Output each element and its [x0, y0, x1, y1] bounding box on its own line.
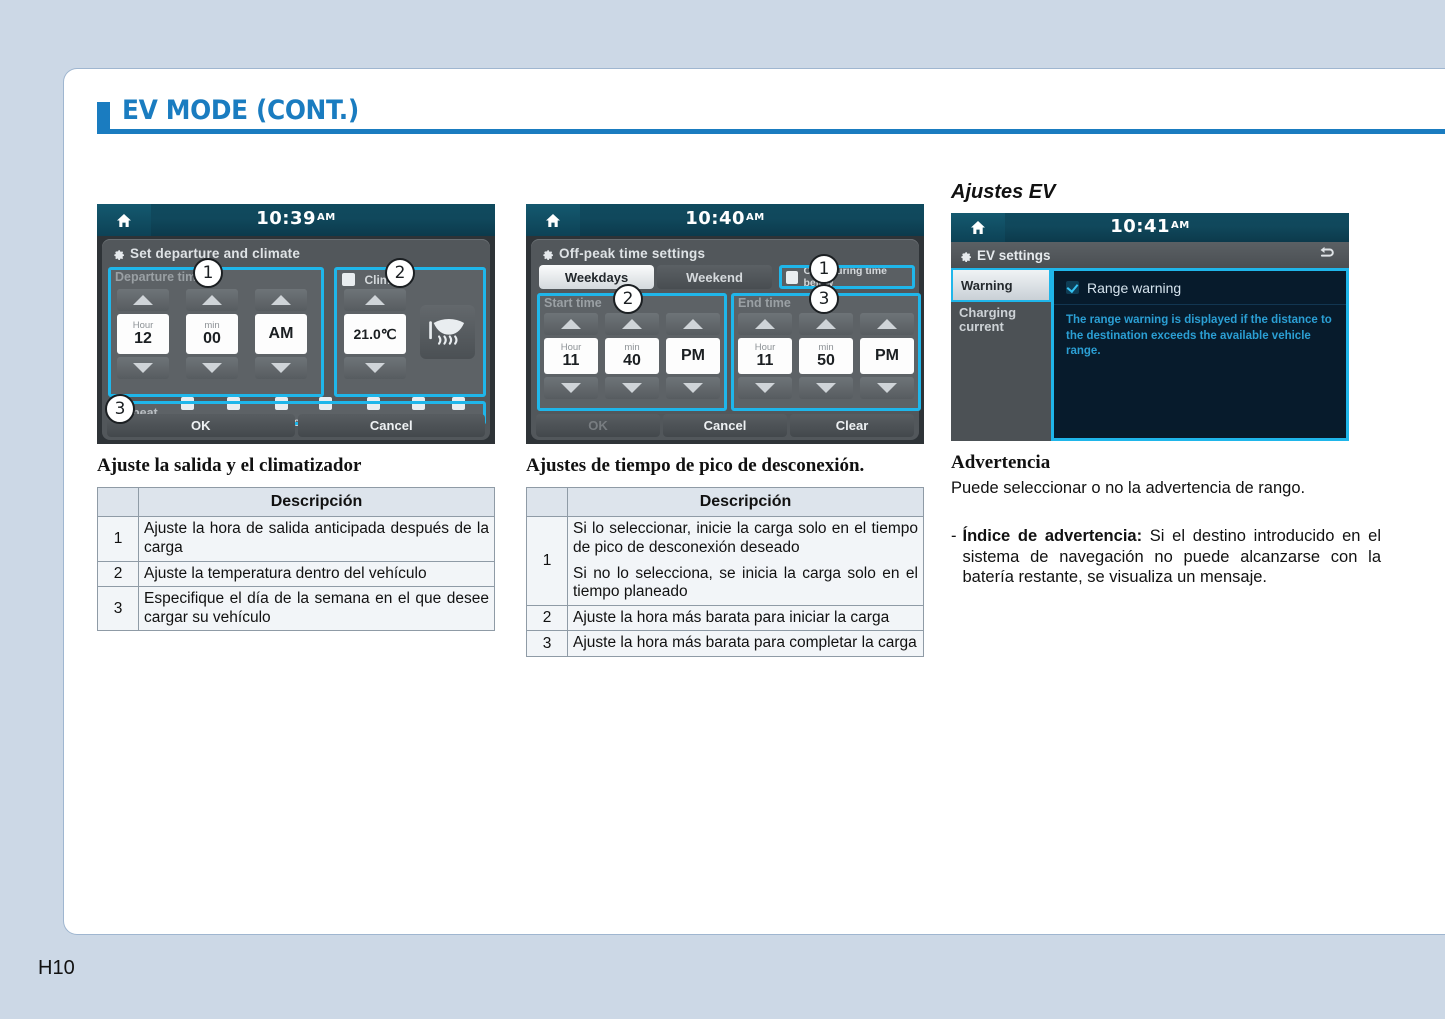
start-ampm-value: PM: [681, 348, 705, 365]
table-header-num: [98, 488, 139, 517]
column-offpeak: 10:40AM Off-peak time settings Weekdays …: [526, 204, 956, 657]
checkbox-sat[interactable]: [452, 397, 465, 410]
checkbox-tue[interactable]: [275, 397, 288, 410]
device-clock: 10:40AM: [526, 208, 924, 229]
row-num: 2: [527, 605, 568, 631]
row-num: 2: [98, 561, 139, 587]
checkbox-wed[interactable]: [319, 397, 332, 410]
temperature-down-arrow[interactable]: [344, 357, 406, 379]
clock-time: 10:41: [1110, 216, 1170, 237]
panel-title: Off-peak time settings: [541, 246, 705, 261]
device-clock: 10:39AM: [97, 208, 495, 229]
cancel-button[interactable]: Cancel: [298, 414, 486, 437]
device-status-bar: 10:41AM: [951, 213, 1349, 242]
checkbox-sun[interactable]: [181, 397, 194, 410]
dialog-button-row: OK Cancel Clear: [536, 414, 914, 437]
departure-time-group: Departure time Hour 12: [108, 267, 324, 397]
end-ampm-spinner[interactable]: PM: [860, 313, 914, 399]
device-status-bar: 10:40AM: [526, 204, 924, 236]
start-time-label: Start time: [544, 296, 602, 310]
temperature-spinner[interactable]: 21.0℃: [344, 289, 406, 379]
ev-settings-content: Range warning The range warning is displ…: [1051, 268, 1349, 441]
offpeak-panel: Off-peak time settings Weekdays Weekend …: [531, 239, 919, 440]
start-hour-value-field[interactable]: Hour 11: [544, 338, 598, 374]
dialog-button-row: OK Cancel: [107, 414, 485, 437]
row-num: 3: [527, 631, 568, 657]
sidebar-item-charging-current[interactable]: Charging current: [951, 302, 1051, 342]
range-warning-checkbox[interactable]: [1066, 281, 1079, 294]
advertencia-body: Puede seleccionar o no la advertencia de…: [951, 478, 1381, 499]
table-row: 2 Ajuste la temperatura dentro del vehíc…: [98, 561, 495, 587]
range-warning-row[interactable]: Range warning: [1054, 271, 1346, 305]
climate-checkbox[interactable]: [342, 273, 355, 286]
table-header-desc: Descripción: [139, 488, 495, 517]
start-minute-down-arrow[interactable]: [605, 377, 659, 399]
minute-up-arrow[interactable]: [186, 289, 238, 311]
row-num: 1: [527, 517, 568, 605]
start-minute-value-field[interactable]: min 40: [605, 338, 659, 374]
ev-settings-sidebar: Warning Charging current: [951, 268, 1051, 441]
end-minute-spinner[interactable]: min 50: [799, 313, 853, 399]
end-ampm-up-arrow[interactable]: [860, 313, 914, 335]
end-hour-spinner[interactable]: Hour 11: [738, 313, 792, 399]
minute-value-field[interactable]: min 00: [186, 314, 238, 354]
ampm-spinner[interactable]: AM: [255, 289, 307, 379]
clock-time: 10:40: [685, 208, 745, 229]
ev-settings-header: EV settings: [951, 242, 1349, 268]
end-ampm-down-arrow[interactable]: [860, 377, 914, 399]
section-heading-ev: Ajustes EV: [951, 181, 1381, 204]
marker-3: 3: [105, 394, 135, 424]
tab-weekdays[interactable]: Weekdays: [539, 265, 654, 289]
ampm-value-field[interactable]: AM: [255, 314, 307, 354]
start-hour-spinner[interactable]: Hour 11: [544, 313, 598, 399]
bullet-text: Índice de advertencia: Si el destino int…: [963, 526, 1382, 588]
end-minute-down-arrow[interactable]: [799, 377, 853, 399]
clock-time: 10:39: [256, 208, 316, 229]
clock-ampm: AM: [1171, 220, 1190, 231]
clock-ampm: AM: [746, 212, 765, 223]
row-text: Si lo seleccionar, inicie la carga solo …: [568, 517, 924, 605]
departure-time-label: Departure time: [115, 270, 203, 284]
table-header-row: Descripción: [527, 488, 924, 517]
device-body: Set departure and climate Departure time…: [97, 236, 495, 444]
end-ampm-value-field[interactable]: PM: [860, 338, 914, 374]
minute-value: 00: [203, 331, 221, 348]
panel-title-text: Set departure and climate: [130, 246, 300, 261]
departure-panel: Set departure and climate Departure time…: [102, 239, 490, 440]
end-minute-value: 50: [817, 353, 835, 370]
table-row: 3 Ajuste la hora más barata para complet…: [527, 631, 924, 657]
ok-button[interactable]: OK: [107, 414, 295, 437]
caption-departure: Ajuste la salida y el climatizador: [97, 455, 527, 477]
start-minute-up-arrow[interactable]: [605, 313, 659, 335]
end-hour-up-arrow[interactable]: [738, 313, 792, 335]
device-clock: 10:41AM: [951, 216, 1349, 237]
column-departure-climate: 10:39AM Set departure and climate Depart…: [97, 204, 527, 631]
hour-up-arrow[interactable]: [117, 289, 169, 311]
column-ev-settings: Ajustes EV 10:41AM EV settings: [951, 181, 1381, 588]
sidebar-item-warning[interactable]: Warning: [951, 268, 1051, 302]
minute-down-arrow[interactable]: [186, 357, 238, 379]
tab-weekend[interactable]: Weekend: [657, 265, 772, 289]
marker-2: 2: [613, 284, 643, 314]
page-number: H10: [38, 957, 75, 980]
start-ampm-value-field[interactable]: PM: [666, 338, 720, 374]
gear-icon: [541, 247, 554, 260]
range-warning-description: The range warning is displayed if the di…: [1054, 305, 1346, 368]
clock-ampm: AM: [317, 212, 336, 223]
page-header: EV MODE (CONT.): [64, 89, 1445, 135]
temperature-value: 21.0℃: [354, 327, 397, 342]
row-text: Especifique el día de la semana en el qu…: [139, 587, 495, 631]
screenshot-set-departure-and-climate: 10:39AM Set departure and climate Depart…: [97, 204, 495, 444]
ev-settings-title: EV settings: [977, 248, 1051, 263]
ampm-value: AM: [269, 326, 294, 343]
header-rule: [97, 129, 1445, 134]
row-text: Ajuste la hora de salida anticipada desp…: [139, 517, 495, 561]
end-hour-down-arrow[interactable]: [738, 377, 792, 399]
end-hour-value-field[interactable]: Hour 11: [738, 338, 792, 374]
start-minute-spinner[interactable]: min 40: [605, 313, 659, 399]
temperature-value-field[interactable]: 21.0℃: [344, 314, 406, 354]
minute-spinner[interactable]: min 00: [186, 289, 238, 379]
row-text: Ajuste la hora más barata para iniciar l…: [568, 605, 924, 631]
only-during-checkbox[interactable]: [786, 271, 798, 284]
table-departure-description: Descripción 1 Ajuste la hora de salida a…: [97, 487, 495, 631]
cancel-button[interactable]: Cancel: [663, 414, 787, 437]
start-ampm-up-arrow[interactable]: [666, 313, 720, 335]
bullet-dash: -: [951, 526, 957, 588]
checkbox-mon[interactable]: [227, 397, 240, 410]
hour-spinner[interactable]: Hour 12: [117, 289, 169, 379]
ampm-down-arrow[interactable]: [255, 357, 307, 379]
start-ampm-down-arrow[interactable]: [666, 377, 720, 399]
panel-title-text: Off-peak time settings: [559, 246, 705, 261]
table-offpeak-description: Descripción 1 Si lo seleccionar, inicie …: [526, 487, 924, 657]
hour-value-field[interactable]: Hour 12: [117, 314, 169, 354]
climate-group: Climate 21.0℃: [334, 267, 486, 397]
marker-3: 3: [809, 284, 839, 314]
ok-button[interactable]: OK: [536, 414, 660, 437]
caption-advertencia: Advertencia: [951, 452, 1381, 474]
start-minute-value: 40: [623, 353, 641, 370]
temperature-up-arrow[interactable]: [344, 289, 406, 311]
start-hour-value: 11: [563, 353, 580, 370]
screenshot-off-peak-time-settings: 10:40AM Off-peak time settings Weekdays …: [526, 204, 924, 444]
row-text-part-2: Si no lo selecciona, se inicia la carga …: [573, 565, 918, 602]
row-num: 3: [98, 587, 139, 631]
caption-offpeak: Ajustes de tiempo de pico de desconexión…: [526, 455, 956, 477]
clear-button[interactable]: Clear: [790, 414, 914, 437]
only-during-time-row[interactable]: Only during time below: [779, 265, 915, 289]
table-header-desc: Descripción: [568, 488, 924, 517]
gear-icon: [959, 249, 972, 262]
marker-1: 1: [809, 254, 839, 284]
bullet-bold-lead: Índice de advertencia:: [963, 527, 1143, 545]
screenshot-ev-settings: 10:41AM EV settings Warning Charging cur…: [951, 213, 1349, 441]
marker-2: 2: [385, 258, 415, 288]
page-card: EV MODE (CONT.) 10:39AM Set departure an…: [63, 68, 1445, 935]
end-minute-up-arrow[interactable]: [799, 313, 853, 335]
device-body: Off-peak time settings Weekdays Weekend …: [526, 236, 924, 444]
table-header-num: [527, 488, 568, 517]
table-row: 3 Especifique el día de la semana en el …: [98, 587, 495, 631]
defrost-icon[interactable]: [420, 305, 475, 359]
indice-advertencia-bullet: - Índice de advertencia: Si el destino i…: [951, 526, 1381, 588]
ampm-up-arrow[interactable]: [255, 289, 307, 311]
table-header-row: Descripción: [98, 488, 495, 517]
table-row: 1 Si lo seleccionar, inicie la carga sol…: [527, 517, 924, 605]
range-warning-label: Range warning: [1087, 280, 1181, 296]
start-hour-down-arrow[interactable]: [544, 377, 598, 399]
table-row: 2 Ajuste la hora más barata para iniciar…: [527, 605, 924, 631]
hour-down-arrow[interactable]: [117, 357, 169, 379]
row-text-part-1: Si lo seleccionar, inicie la carga solo …: [573, 520, 918, 557]
hour-value: 12: [134, 331, 152, 348]
marker-1: 1: [193, 258, 223, 288]
end-ampm-value: PM: [875, 348, 899, 365]
start-hour-up-arrow[interactable]: [544, 313, 598, 335]
checkbox-thu[interactable]: [367, 397, 380, 410]
row-text: Ajuste la temperatura dentro del vehícul…: [139, 561, 495, 587]
end-hour-value: 11: [757, 353, 774, 370]
end-time-label: End time: [738, 296, 791, 310]
device-body: EV settings Warning Charging current Ran…: [951, 242, 1349, 441]
gear-icon: [112, 247, 125, 260]
back-arrow-icon[interactable]: [1319, 246, 1337, 265]
start-ampm-spinner[interactable]: PM: [666, 313, 720, 399]
row-num: 1: [98, 517, 139, 561]
row-text: Ajuste la hora más barata para completar…: [568, 631, 924, 657]
end-minute-value-field[interactable]: min 50: [799, 338, 853, 374]
table-row: 1 Ajuste la hora de salida anticipada de…: [98, 517, 495, 561]
page-title: EV MODE (CONT.): [122, 95, 359, 126]
device-status-bar: 10:39AM: [97, 204, 495, 236]
checkbox-fri[interactable]: [412, 397, 425, 410]
